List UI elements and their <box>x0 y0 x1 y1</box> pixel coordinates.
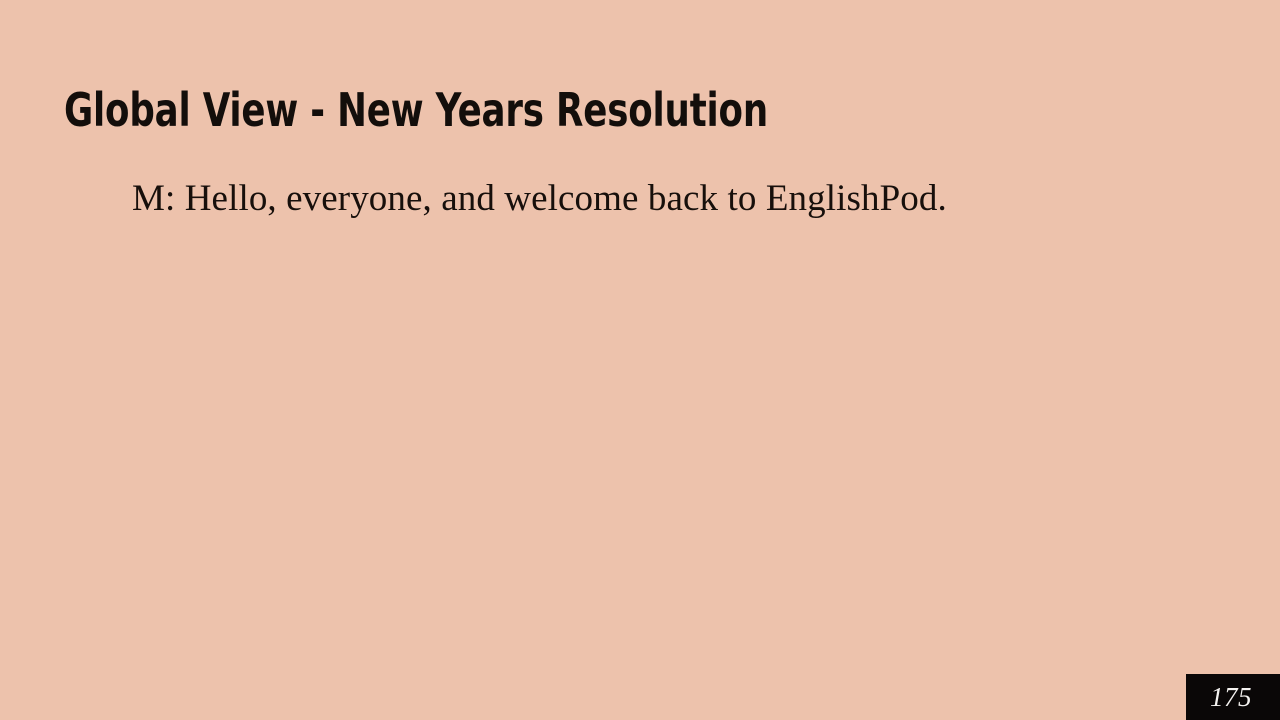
page-number-badge: 175 <box>1186 674 1280 720</box>
page-title: Global View - New Years Resolution <box>64 81 768 139</box>
page-number-text: 175 <box>1210 684 1256 711</box>
transcript-line: M: Hello, everyone, and welcome back to … <box>132 176 1192 222</box>
slide-canvas: Global View - New Years Resolution M: He… <box>0 0 1280 720</box>
transcript-block: M: Hello, everyone, and welcome back to … <box>132 176 1192 222</box>
